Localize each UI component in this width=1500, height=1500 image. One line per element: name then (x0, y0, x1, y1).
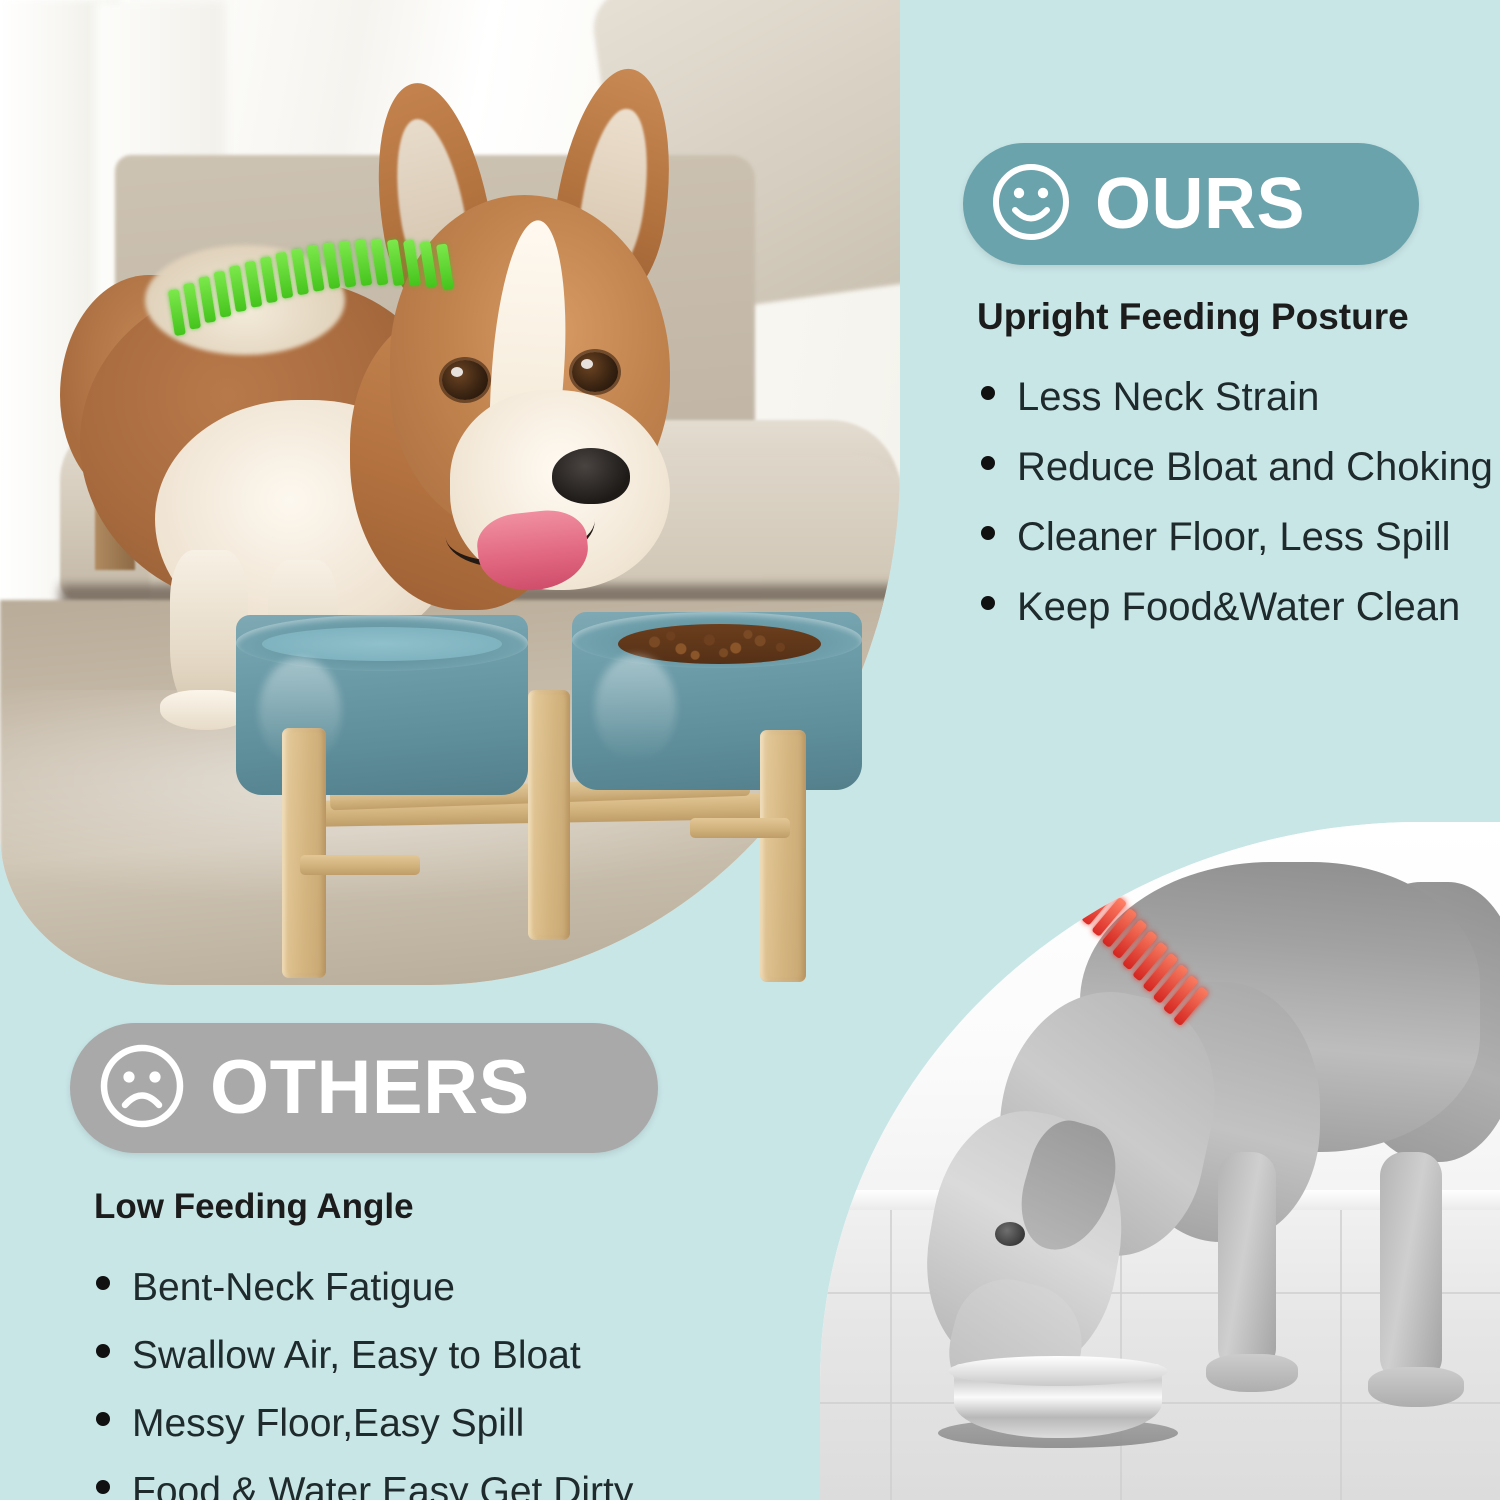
dog-hind-leg (1380, 1152, 1442, 1382)
dog-eye (995, 1222, 1025, 1246)
stand-cross-brace-left (300, 855, 420, 875)
list-item-label: Messy Floor,Easy Spill (132, 1404, 524, 1443)
ours-badge-label: OURS (1095, 168, 1305, 240)
bullet-dot-icon (981, 456, 995, 470)
ours-heading: Upright Feeding Posture (977, 296, 1483, 338)
bullet-dot-icon (96, 1344, 110, 1358)
list-item: Swallow Air, Easy to Bloat (96, 1336, 690, 1375)
others-panel: OTHERS Low Feeding Angle Bent-Neck Fatig… (70, 1023, 690, 1500)
water-bowl (236, 615, 528, 795)
bullet-dot-icon (96, 1480, 110, 1494)
list-item-label: Reduce Bloat and Choking (1017, 447, 1493, 487)
list-item: Bent-Neck Fatigue (96, 1268, 690, 1307)
others-heading: Low Feeding Angle (94, 1187, 690, 1227)
stand-cross-brace-right (690, 818, 790, 838)
list-item-label: Food & Water Easy Get Dirty (132, 1472, 633, 1500)
list-item: Less Neck Strain (981, 377, 1483, 417)
food-bowl (572, 612, 862, 790)
ours-badge: OURS (963, 143, 1419, 265)
bullet-dot-icon (981, 386, 995, 400)
ours-panel: OURS Upright Feeding Posture Less Neck S… (963, 143, 1483, 657)
steel-bowl-rim (948, 1356, 1168, 1386)
bullet-dot-icon (981, 526, 995, 540)
sad-face-icon (96, 1040, 188, 1137)
ours-benefit-list: Less Neck Strain Reduce Bloat and Chokin… (981, 377, 1483, 627)
dog-paw-hind (1368, 1367, 1464, 1407)
bullet-dot-icon (96, 1276, 110, 1290)
corgi-eye-left (442, 360, 488, 400)
list-item-label: Keep Food&Water Clean (1017, 587, 1460, 627)
stand-leg-front-left (282, 728, 326, 978)
stand-leg-right (760, 730, 806, 982)
stand-leg-center (528, 690, 570, 940)
others-badge-label: OTHERS (210, 1050, 530, 1126)
dog-front-leg (1218, 1152, 1276, 1372)
list-item-label: Less Neck Strain (1017, 377, 1319, 417)
stainless-steel-floor-bowl (938, 1352, 1178, 1452)
smiley-face-icon (989, 160, 1073, 249)
others-drawback-list: Bent-Neck Fatigue Swallow Air, Easy to B… (96, 1268, 690, 1500)
water-bowl-contents (262, 627, 501, 661)
list-item: Cleaner Floor, Less Spill (981, 517, 1483, 557)
food-bowl-gloss (595, 655, 676, 762)
bullet-dot-icon (981, 596, 995, 610)
list-item-label: Swallow Air, Easy to Bloat (132, 1336, 581, 1375)
list-item-label: Cleaner Floor, Less Spill (1017, 517, 1451, 557)
list-item: Reduce Bloat and Choking (981, 447, 1483, 487)
dog-paw-front (1206, 1354, 1298, 1392)
infographic-canvas: OURS Upright Feeding Posture Less Neck S… (0, 0, 1500, 1500)
large-dog-bent-over-floor-bowl-photo (820, 822, 1500, 1500)
list-item: Messy Floor,Easy Spill (96, 1404, 690, 1443)
others-badge: OTHERS (70, 1023, 658, 1153)
list-item-label: Bent-Neck Fatigue (132, 1268, 455, 1307)
list-item: Keep Food&Water Clean (981, 587, 1483, 627)
corgi-eye-right (572, 352, 618, 392)
list-item: Food & Water Easy Get Dirty (96, 1472, 690, 1500)
bullet-dot-icon (96, 1412, 110, 1426)
